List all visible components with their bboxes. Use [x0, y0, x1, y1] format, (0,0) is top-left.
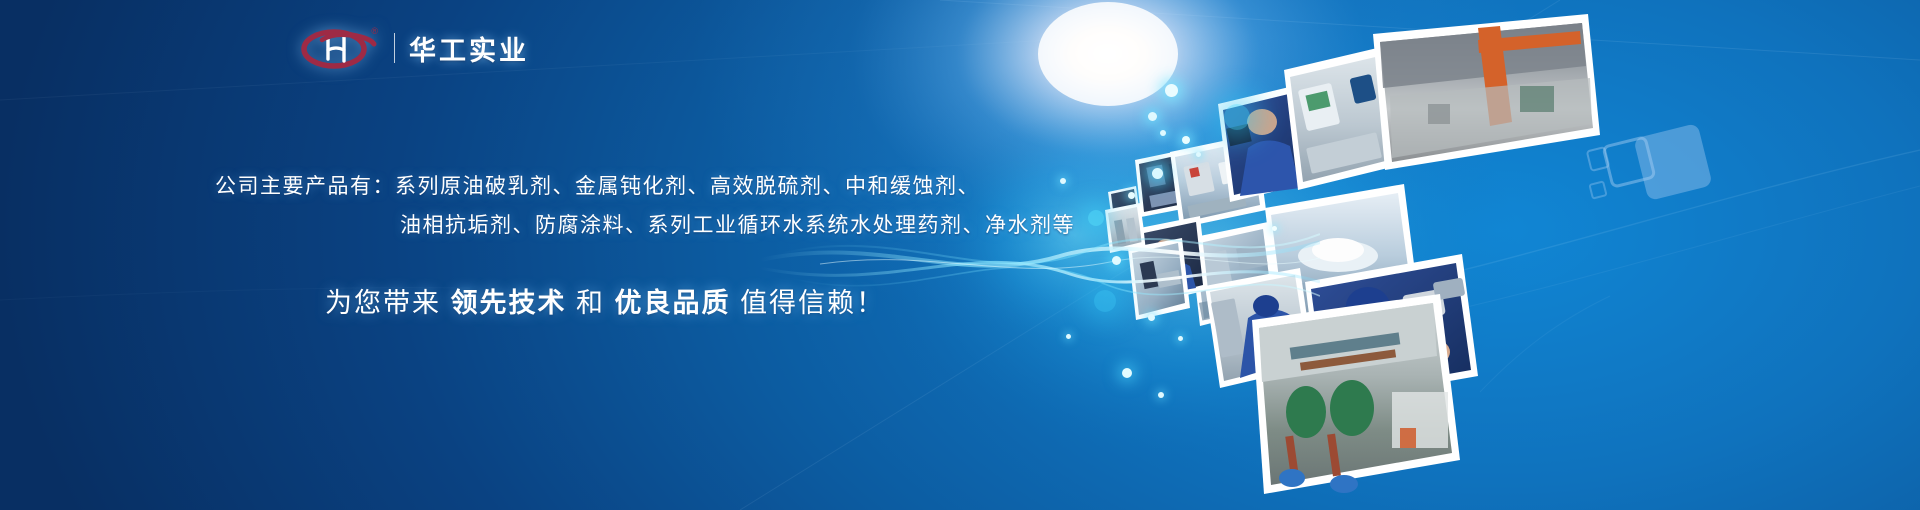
square-shape-outline-tiny	[1588, 180, 1607, 199]
tagline-highlight-quality: 优良品质	[615, 288, 731, 318]
tagline-part-3: 和	[576, 288, 605, 318]
photo-worker-station	[1140, 216, 1208, 304]
industrial-photo-collage	[0, 0, 1920, 510]
bokeh-dot	[1060, 178, 1066, 184]
photo-lab-bench	[1265, 184, 1418, 326]
photo-chemical-plant	[1252, 294, 1460, 494]
decorative-squares	[1588, 120, 1778, 240]
bokeh-dot	[1272, 226, 1277, 231]
photo-thumb-far	[1108, 186, 1140, 221]
ch-monogram-icon: ®	[300, 26, 380, 70]
bokeh-dot	[1196, 152, 1201, 157]
bokeh-dot	[1122, 368, 1132, 378]
bokeh-dot	[1165, 84, 1178, 97]
photo-lab-microscope	[1128, 238, 1190, 320]
registered-trademark-icon: ®	[371, 27, 378, 36]
bokeh-dot	[1160, 130, 1166, 136]
company-logo[interactable]: ® 华工实业	[300, 26, 529, 70]
tagline-part-1: 为您带来	[325, 288, 441, 318]
bokeh-dot	[1152, 168, 1163, 179]
hero-banner: ® 华工实业 公司主要产品有：系列原油破乳剂、金属钝化剂、高效脱硫剂、中和缓蚀剂…	[0, 0, 1920, 510]
bokeh-dot	[1182, 136, 1190, 144]
collage-svg	[0, 0, 1920, 510]
tagline-part-5: 值得信赖！	[740, 288, 885, 318]
square-shape-large	[1633, 123, 1713, 201]
photo-lab-technician-blue	[1218, 82, 1322, 202]
bokeh-dot	[1066, 334, 1071, 339]
bokeh-dot	[1158, 392, 1164, 398]
logo-divider	[394, 33, 395, 63]
bokeh-dot	[1148, 314, 1155, 321]
decorative-hairlines	[0, 0, 1920, 510]
photo-control-cabinet	[1170, 134, 1266, 228]
product-line-2: 油相抗垢剂、防腐涂料、系列工业循环水系统水处理药剂、净水剂等	[400, 209, 1075, 239]
square-shape-outline-small	[1586, 146, 1611, 172]
photo-factory-warehouse	[1373, 14, 1600, 170]
tagline-highlight-technology: 领先技术	[451, 288, 567, 318]
bokeh-dot	[1094, 290, 1116, 312]
square-shape-outline-medium	[1601, 135, 1656, 189]
product-line-1: 公司主要产品有：系列原油破乳剂、金属钝化剂、高效脱硫剂、中和缓蚀剂、	[215, 170, 980, 200]
bokeh-dot	[1148, 112, 1157, 121]
bokeh-dot	[1128, 192, 1135, 199]
bokeh-dot	[1224, 104, 1250, 130]
tagline: 为您带来 领先技术 和 优良品质 值得信赖！	[325, 281, 885, 320]
photo-small-cabinet	[1105, 203, 1146, 253]
photo-equipment-panel	[1284, 45, 1404, 190]
photo-clean-room	[1190, 222, 1278, 326]
photo-equipment-panel-2	[1205, 268, 1314, 388]
bokeh-dot	[1112, 256, 1121, 265]
bokeh-dot	[1178, 336, 1183, 341]
photo-instrument-rack	[1135, 147, 1203, 217]
company-name: 华工实业	[409, 29, 529, 68]
photo-lab-technician-blue-2	[1305, 254, 1478, 404]
bokeh-dot	[1088, 210, 1104, 226]
